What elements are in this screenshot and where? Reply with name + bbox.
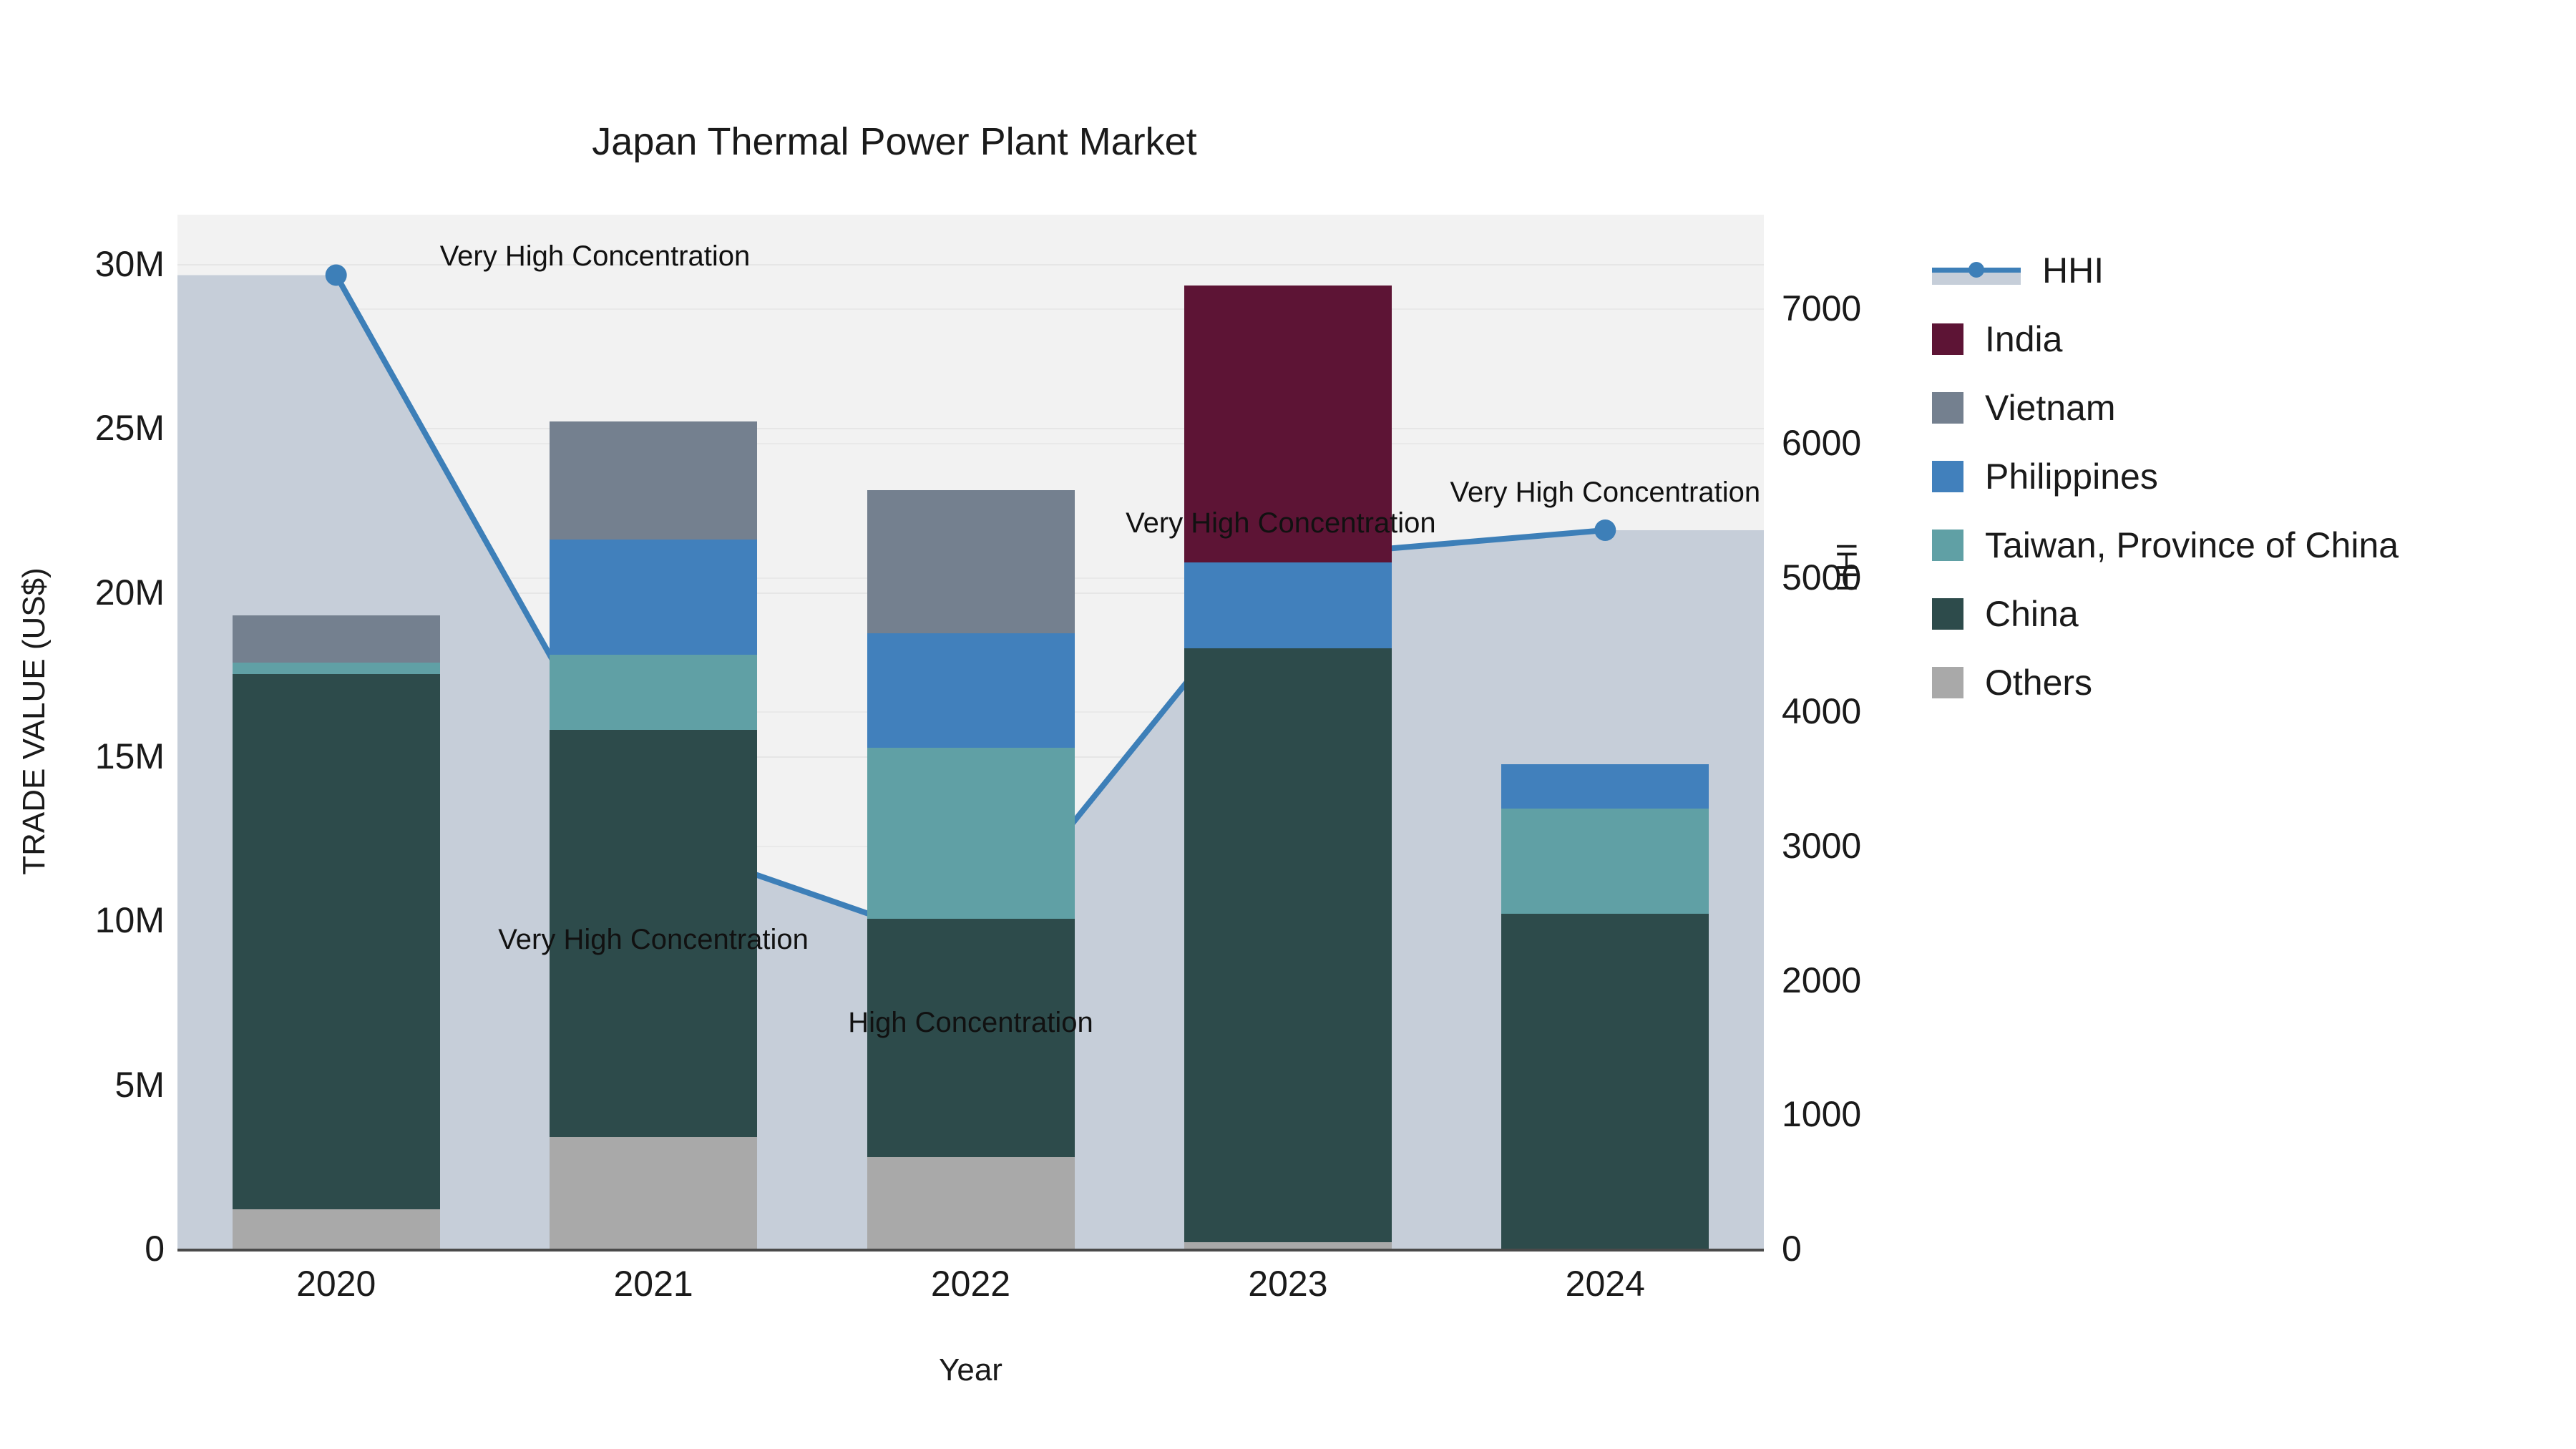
legend-item-hhi[interactable]: HHI	[1932, 236, 2562, 305]
legend-swatch-icon	[1932, 667, 1963, 698]
legend-item-china[interactable]: China	[1932, 580, 2562, 648]
legend-swatch-icon	[1932, 461, 1963, 492]
y-axis-label-right: HHI	[1832, 489, 1864, 646]
y-axis-label: TRADE VALUE (US$)	[16, 499, 52, 943]
hhi-annotation: Very High Concentration	[1126, 507, 1436, 540]
legend-swatch-icon	[1932, 392, 1963, 424]
annotation-layer: Very High ConcentrationVery High Concent…	[0, 0, 1860, 1449]
legend-item-label: Others	[1985, 662, 2092, 703]
legend-item-label: Taiwan, Province of China	[1985, 525, 2399, 566]
hhi-annotation: Very High Concentration	[440, 240, 751, 273]
legend-item-label: India	[1985, 318, 2062, 360]
legend-swatch-icon	[1932, 323, 1963, 355]
legend-item-label: Philippines	[1985, 456, 2158, 497]
hhi-annotation: Very High Concentration	[1450, 477, 1761, 509]
legend-swatch-icon	[1932, 598, 1963, 630]
hhi-annotation: Very High Concentration	[498, 924, 809, 956]
legend-item-label: Vietnam	[1985, 387, 2116, 429]
legend-item-others[interactable]: Others	[1932, 648, 2562, 717]
x-axis-label: Year	[177, 1352, 1764, 1388]
legend-item-philippines[interactable]: Philippines	[1932, 442, 2562, 511]
legend-line-icon	[1932, 255, 2021, 286]
legend: HHIIndiaVietnamPhilippinesTaiwan, Provin…	[1932, 236, 2562, 717]
legend-swatch-icon	[1932, 530, 1963, 561]
hhi-annotation: High Concentration	[848, 1007, 1093, 1039]
legend-item-india[interactable]: India	[1932, 305, 2562, 374]
legend-item-vietnam[interactable]: Vietnam	[1932, 374, 2562, 442]
legend-item-taiwan-province-of-china[interactable]: Taiwan, Province of China	[1932, 511, 2562, 580]
legend-item-label: China	[1985, 593, 2079, 635]
legend-item-label: HHI	[2042, 250, 2104, 291]
